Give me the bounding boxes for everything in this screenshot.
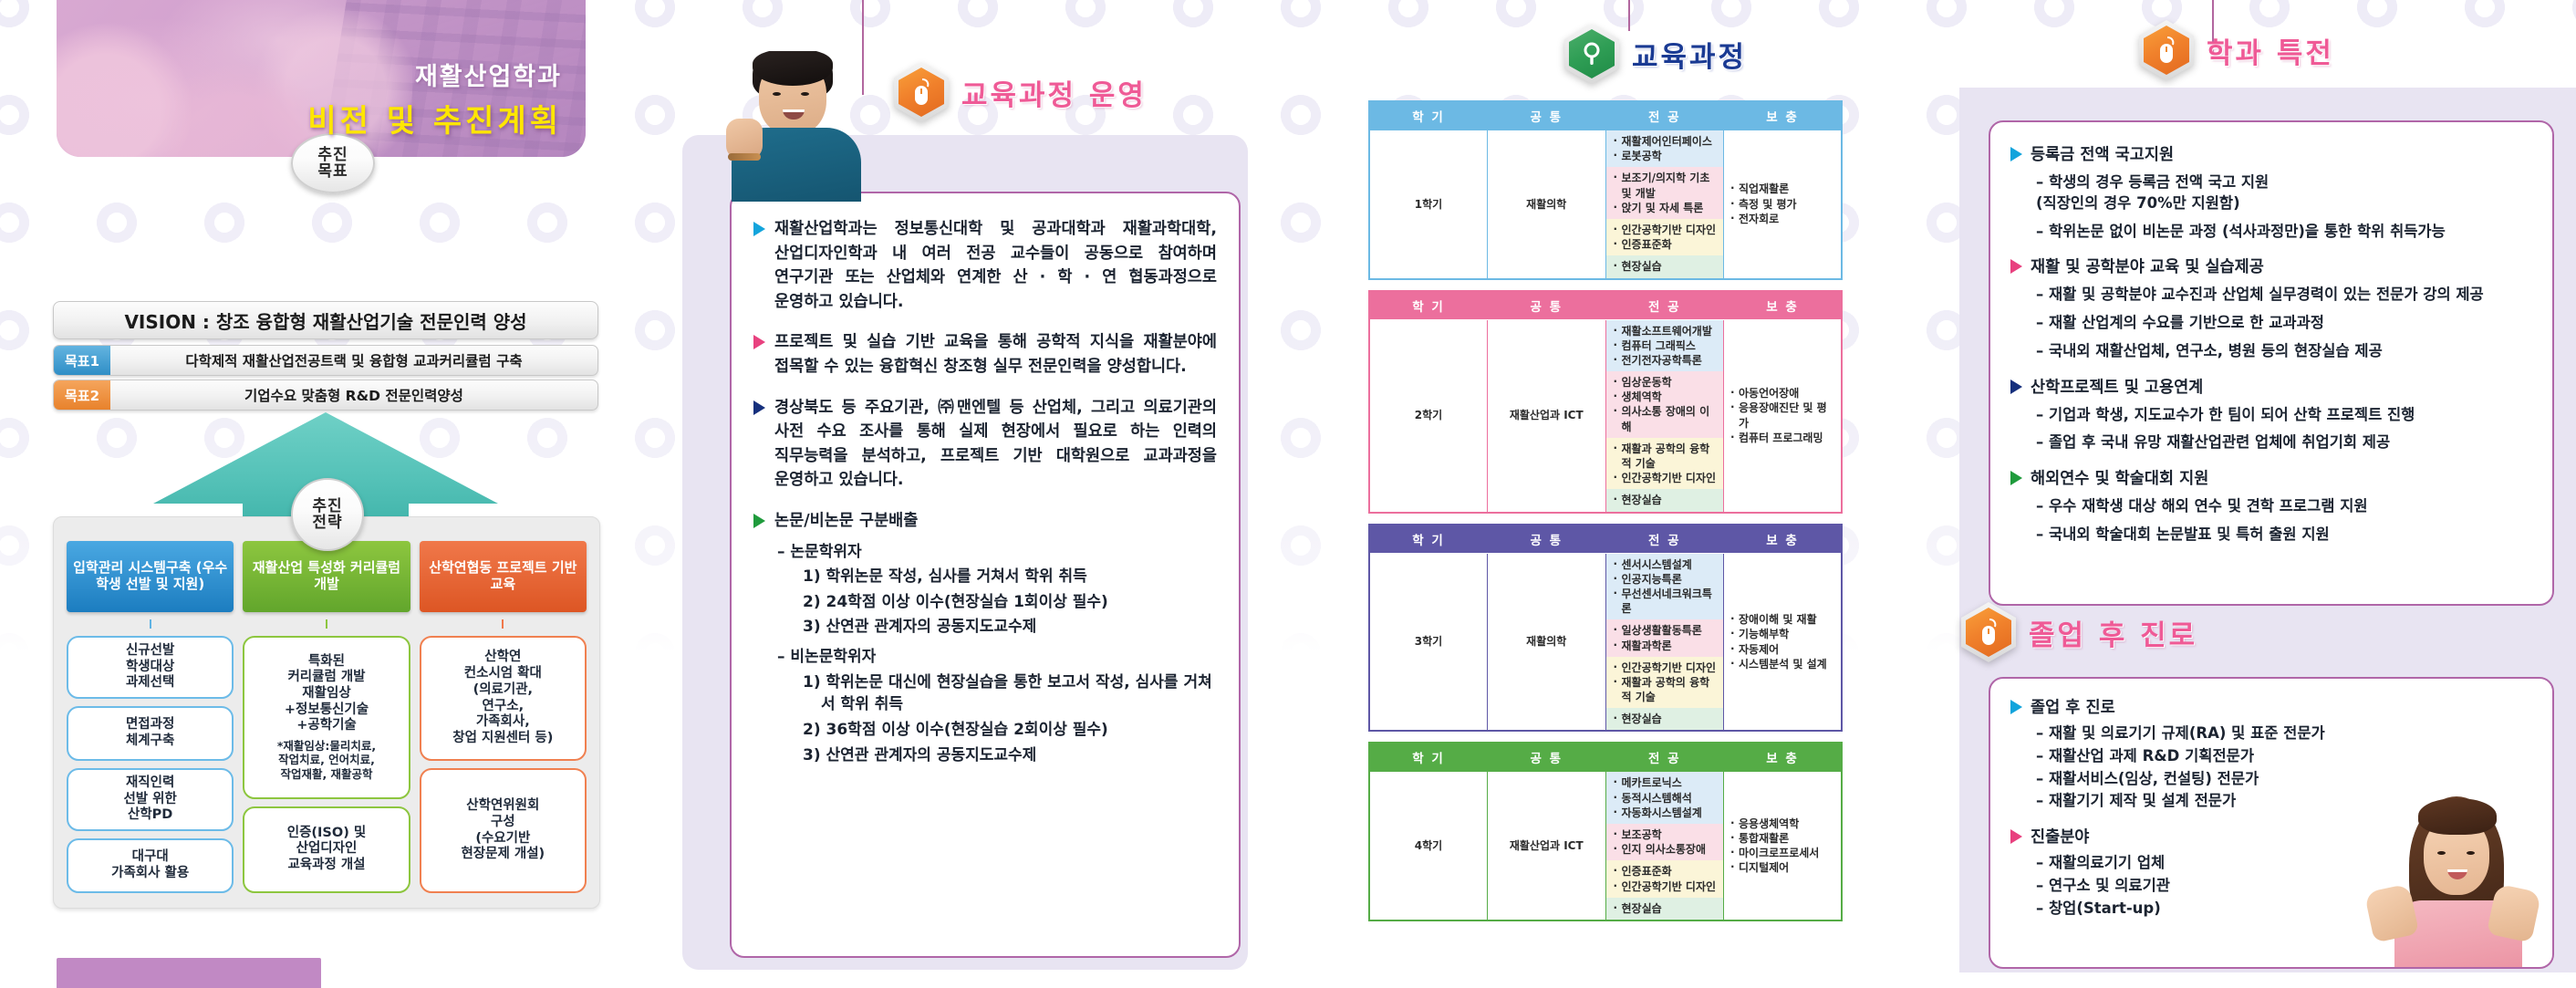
career-heading: 졸업 후 진로	[2031, 695, 2115, 718]
course: 현장실습	[1612, 901, 1719, 916]
bullet-triangle-icon	[2010, 829, 2022, 844]
section-title-special: 학과 특전	[2207, 30, 2334, 71]
semester-table-4: 학 기 공 통 전 공 보 충 4학기 재활산업과 ICT 메카트로닉스동적시스…	[1368, 742, 1843, 921]
strategy-column-industry: 산학연협동 프로젝트 기반 교육 산학연 컨소시엄 확대 (의료기관, 연구소,…	[420, 541, 587, 893]
connector	[243, 619, 410, 629]
special-heading: 재활 및 공학분야 교육 및 실습제공	[2031, 255, 2264, 277]
cell-semester: 1학기	[1369, 130, 1488, 279]
cell-semester: 2학기	[1369, 319, 1488, 513]
course: 측정 및 평가	[1729, 197, 1836, 212]
col-header-supplement: 보 충	[1724, 101, 1843, 130]
cell-supplement: 아동언어장애 응용장애진단 및 평가 컴퓨터 프로그래밍	[1724, 319, 1843, 513]
cell-major: 센서시스템설계인공지능특론무선센서네크워크특론 일상생활활동특론재활과학론 인간…	[1605, 553, 1724, 731]
col-header-major: 전 공	[1605, 525, 1724, 554]
semester-table-2: 학 기 공 통 전 공 보 충 2학기 재활산업과 ICT 재활소프트웨어개발컴…	[1368, 290, 1843, 514]
course: 생체역학	[1612, 390, 1719, 404]
badge-strategy-line1: 추진	[312, 498, 342, 515]
curriculum-tables: 학 기 공 통 전 공 보 충 1학기 재활의학 재활제어인터페이스로봇공학 보…	[1368, 100, 1879, 931]
course: 로봇공학	[1612, 149, 1719, 163]
mouse-icon	[894, 62, 949, 122]
course: 임상운동학	[1612, 375, 1719, 390]
course: 컴퓨터 프로그래밍	[1729, 431, 1836, 445]
course: 보조기/의지학 기초 및 개발	[1612, 171, 1719, 200]
cell-common: 재활산업과 ICT	[1488, 319, 1606, 513]
cell-major: 재활제어인터페이스로봇공학 보조기/의지학 기초 및 개발앉기 및 자세 특론 …	[1605, 130, 1724, 279]
col-header-semester: 학 기	[1369, 291, 1488, 320]
special-detail: – 국내외 재활산업체, 연구소, 병원 등의 현장실습 제공	[2036, 341, 2532, 362]
course: 인간공학기반 디자인	[1612, 223, 1719, 237]
course: 재활과 공학의 융학적 기술	[1612, 675, 1719, 704]
operation-block-text: 경상북도 등 주요기관, ㈜맨엔텔 등 산업체, 그리고 의료기관의 사전 수요…	[774, 396, 1217, 493]
special-detail: – 우수 재학생 대상 해외 연수 및 견학 프로그램 지원	[2036, 496, 2532, 517]
bullet-triangle-icon	[2010, 380, 2022, 394]
table-row: 1학기 재활의학 재활제어인터페이스로봇공학 보조기/의지학 기초 및 개발앉기…	[1369, 130, 1842, 279]
cell-common: 재활의학	[1488, 553, 1606, 731]
career-section: 졸업 후 진로	[2010, 695, 2532, 718]
operation-block-text: 프로젝트 및 실습 기반 교육을 통해 공학적 지식을 재활분야에 접목할 수 …	[774, 330, 1217, 379]
course: 마이크로프로세서	[1729, 846, 1836, 860]
course: 현장실습	[1612, 259, 1719, 274]
special-detail: – 졸업 후 국내 유망 재활산업관련 업체에 취업기회 제공	[2036, 432, 2532, 453]
bullet-triangle-icon	[753, 400, 765, 415]
student-photo-male	[722, 51, 868, 202]
special-section: 재활 및 공학분야 교육 및 실습제공	[2010, 255, 2532, 277]
strategy-column-curriculum: 재활산업 특성화 커리큘럼 개발 특화된 커리큘럼 개발 재활임상 +정보통신기…	[243, 541, 410, 893]
strategy-item: 산학연위원회 구성 (수요기반 현장문제 개설)	[420, 768, 587, 893]
course: 전기전자공학특론	[1612, 353, 1719, 368]
strategy-item: 면접과정 체계구축	[67, 706, 234, 761]
col-header-major: 전 공	[1605, 101, 1724, 130]
goal-tag: 목표2	[54, 380, 110, 410]
strategy-item: 산학연 컨소시엄 확대 (의료기관, 연구소, 가족회사, 창업 지원센터 등)	[420, 636, 587, 761]
col-header-supplement: 보 충	[1724, 525, 1843, 554]
course: 인공지능특론	[1612, 572, 1719, 587]
special-detail: – 재활 및 공학분야 교수진과 산업체 실무경력이 있는 전문가 강의 제공	[2036, 285, 2532, 306]
course: 앉기 및 자세 특론	[1612, 201, 1719, 215]
strategy-item: 신규선발 학생대상 과제선택	[67, 636, 234, 699]
course: 인증표준화	[1612, 864, 1719, 879]
operation-block-degree: 논문/비논문 구분배출 – 논문학위자 1) 학위논문 작성, 심사를 거쳐서 …	[753, 509, 1217, 766]
degree-requirement: 3) 산연관 관계자의 공동지도교수제	[803, 744, 1217, 767]
career-detail: – 재활 및 의료기기 규제(RA) 및 표준 전문가	[2036, 723, 2532, 744]
degree-requirement: 1) 학위논문 작성, 심사를 거쳐서 학위 취득	[803, 566, 1217, 588]
bottom-accent-bar	[57, 958, 321, 988]
strategy-item: 인증(ISO) 및 산업디자인 교육과정 개설	[243, 806, 410, 893]
special-detail: – 재활 산업계의 수요를 기반으로 한 교과과정	[2036, 313, 2532, 334]
course: 의사소통 장애의 이해	[1612, 404, 1719, 433]
hero-banner: 재활산업학과 비전 및 추진계획	[57, 0, 586, 157]
special-detail: – 학생의 경우 등록금 전액 국고 지원 (직장인의 경우 70%만 지원함)	[2036, 172, 2532, 214]
course: 인간공학기반 디자인	[1612, 879, 1719, 894]
degree-requirement: 2) 36학점 이상 이수(현장실습 2회이상 필수)	[803, 719, 1217, 742]
goal-text: 다학제적 재활산업전공트랙 및 융합형 교과커리큘럼 구축	[110, 346, 597, 375]
col-header-supplement: 보 충	[1724, 743, 1843, 772]
course: 디지털제어	[1729, 860, 1836, 875]
course: 무선센서네크워크특론	[1612, 587, 1719, 616]
badge-goal: 추진 목표	[291, 133, 375, 193]
bullet-triangle-icon	[2010, 259, 2022, 274]
cell-major: 메카트로닉스동적시스템해석자동화시스템설계 보조공학인지 의사소통장애 인증표준…	[1605, 772, 1724, 920]
course: 재활제어인터페이스	[1612, 134, 1719, 149]
cell-semester: 3학기	[1369, 553, 1488, 731]
course: 보조공학	[1612, 827, 1719, 842]
special-detail: – 학위논문 없이 비논문 과정 (석사과정만)을 통한 학위 취득가능	[2036, 222, 2532, 243]
strategy-item-main: 특화된 커리큘럼 개발 재활임상 +정보통신기술 +공학기술	[285, 654, 369, 734]
section-header-curriculum: 교육과정	[1564, 24, 1747, 84]
cell-supplement: 장애이해 및 재활 기능해부학 자동제어 시스템분석 및 설계	[1724, 553, 1843, 731]
col-header-semester: 학 기	[1369, 101, 1488, 130]
strategy-item: 대구대 가족회사 활용	[67, 838, 234, 893]
special-section: 등록금 전액 국고지원	[2010, 142, 2532, 165]
strategy-item: 특화된 커리큘럼 개발 재활임상 +정보통신기술 +공학기술 *재활임상:물리치…	[243, 636, 410, 799]
bullet-triangle-icon	[753, 335, 765, 349]
course: 재활소프트웨어개발	[1612, 324, 1719, 338]
hero-subtitle: 비전 및 추진계획	[307, 96, 562, 140]
bullet-triangle-icon	[2010, 700, 2022, 714]
semester-table-3: 학 기 공 통 전 공 보 충 3학기 재활의학 센서시스템설계인공지능특론무선…	[1368, 524, 1843, 733]
course: 응용장애진단 및 평가	[1729, 400, 1836, 430]
col-header-major: 전 공	[1605, 291, 1724, 320]
strategy-item-note: *재활임상:물리치료, 작업치료, 언어치료, 작업재활, 재활공학	[277, 739, 376, 781]
cell-supplement: 응용생체역학 통합재활론 마이크로프로세서 디지털제어	[1724, 772, 1843, 920]
col-header-common: 공 통	[1488, 525, 1606, 554]
section-title-operation: 교육과정 운영	[961, 72, 1147, 113]
vision-statement: VISION : 창조 융합형 재활산업기술 전문인력 양성	[53, 301, 598, 339]
course: 전자회로	[1729, 212, 1836, 226]
bullet-triangle-icon	[753, 514, 765, 528]
bullet-triangle-icon	[2010, 147, 2022, 161]
career-detail: – 재활산업 과제 R&D 기획전문가	[2036, 746, 2532, 767]
col-header-supplement: 보 충	[1724, 291, 1843, 320]
section-title-curriculum: 교육과정	[1632, 34, 1747, 75]
course: 인간공학기반 디자인	[1612, 660, 1719, 675]
operation-block-text: 재활산업학과는 정보통신대학 및 공과대학과 재활과학대학, 산업디자인학과 내…	[774, 217, 1217, 314]
badge-goal-line1: 추진	[317, 147, 348, 163]
bullet-triangle-icon	[2010, 471, 2022, 485]
badge-strategy: 추진 전략	[291, 478, 364, 551]
col-header-common: 공 통	[1488, 743, 1606, 772]
bullet-triangle-icon	[753, 222, 765, 236]
table-row: 2학기 재활산업과 ICT 재활소프트웨어개발컴퓨터 그래픽스전기전자공학특론 …	[1369, 319, 1842, 513]
special-card: 등록금 전액 국고지원 – 학생의 경우 등록금 전액 국고 지원 (직장인의 …	[1989, 120, 2554, 606]
course: 응용생체역학	[1729, 816, 1836, 831]
vision-column: 재활산업학과 비전 및 추진계획 추진 목표 VISION : 창조 융합형 재…	[0, 0, 666, 988]
semester-table-1: 학 기 공 통 전 공 보 충 1학기 재활의학 재활제어인터페이스로봇공학 보…	[1368, 100, 1843, 280]
course: 아동언어장애	[1729, 386, 1836, 400]
goal-row: 목표2 기업수요 맞춤형 R&D 전문인력양성	[53, 380, 598, 411]
course: 자동제어	[1729, 642, 1836, 657]
course: 시스템분석 및 설계	[1729, 657, 1836, 671]
career-heading: 진출분야	[2031, 825, 2089, 848]
special-heading: 해외연수 및 학술대회 지원	[2031, 466, 2208, 489]
cell-common: 재활산업과 ICT	[1488, 772, 1606, 920]
special-heading: 등록금 전액 국고지원	[2031, 142, 2174, 165]
course: 장애이해 및 재활	[1729, 612, 1836, 627]
degree-group-label: – 논문학위자	[777, 541, 1217, 564]
degree-group-label: – 비논문학위자	[777, 646, 1217, 669]
mouse-icon	[2139, 20, 2194, 80]
special-section: 산학프로젝트 및 고용연계	[2010, 375, 2532, 398]
goal-row: 목표1 다학제적 재활산업전공트랙 및 융합형 교과커리큘럼 구축	[53, 345, 598, 376]
strategy-column-admission: 입학관리 시스템구축 (우수학생 선발 및 지원) 신규선발 학생대상 과제선택…	[67, 541, 234, 893]
col-header-semester: 학 기	[1369, 743, 1488, 772]
course: 자동화시스템설계	[1612, 806, 1719, 820]
strategy-item: 재직인력 선발 위한 산학PD	[67, 768, 234, 831]
connector	[420, 619, 587, 629]
operation-block: 경상북도 등 주요기관, ㈜맨엔텔 등 산업체, 그리고 의료기관의 사전 수요…	[753, 396, 1217, 493]
col-header-common: 공 통	[1488, 291, 1606, 320]
course: 인간공학기반 디자인	[1612, 471, 1719, 485]
course: 동적시스템해석	[1612, 791, 1719, 806]
section-title-career: 졸업 후 진로	[2029, 612, 2197, 653]
operation-card: 재활산업학과는 정보통신대학 및 공과대학과 재활과학대학, 산업디자인학과 내…	[730, 192, 1241, 958]
strategy-panel: 입학관리 시스템구축 (우수학생 선발 및 지원) 신규선발 학생대상 과제선택…	[53, 516, 600, 909]
operation-block: 재활산업학과는 정보통신대학 및 공과대학과 재활과학대학, 산업디자인학과 내…	[753, 217, 1217, 314]
special-detail: – 기업과 학생, 지도교수가 한 팀이 되어 산학 프로젝트 진행	[2036, 405, 2532, 426]
table-row: 3학기 재활의학 센서시스템설계인공지능특론무선센서네크워크특론 일상생활활동특…	[1369, 553, 1842, 731]
student-photo-female	[2347, 780, 2543, 967]
cell-semester: 4학기	[1369, 772, 1488, 920]
special-section: 해외연수 및 학술대회 지원	[2010, 466, 2532, 489]
degree-requirement: 2) 24학점 이상 이수(현장실습 1회이상 필수)	[803, 591, 1217, 614]
badge-strategy-line2: 전략	[312, 515, 342, 531]
cell-supplement: 직업재활론 측정 및 평가 전자회로	[1724, 130, 1843, 279]
operation-block: 프로젝트 및 실습 기반 교육을 통해 공학적 지식을 재활분야에 접목할 수 …	[753, 330, 1217, 379]
course: 일상생활활동특론	[1612, 623, 1719, 638]
special-detail: – 국내외 학술대회 논문발표 및 특허 출원 지원	[2036, 525, 2532, 546]
magnifier-icon	[1564, 24, 1619, 84]
course: 현장실습	[1612, 493, 1719, 507]
goal-tag: 목표1	[54, 346, 110, 375]
strategy-head: 산학연협동 프로젝트 기반 교육	[420, 541, 587, 612]
course: 인지 의사소통장애	[1612, 842, 1719, 857]
section-header-career: 졸업 후 진로	[1961, 602, 2197, 662]
degree-requirement: 1) 학위논문 대신에 현장실습을 통한 보고서 작성, 심사를 거쳐서 학위 …	[803, 671, 1217, 716]
course: 직업재활론	[1729, 182, 1836, 196]
operation-block-text: 논문/비논문 구분배출	[774, 509, 918, 534]
mouse-icon	[1961, 602, 2016, 662]
col-header-major: 전 공	[1605, 743, 1724, 772]
badge-goal-line2: 목표	[317, 163, 348, 180]
course: 통합재활론	[1729, 831, 1836, 846]
career-card: 졸업 후 진로 – 재활 및 의료기기 규제(RA) 및 표준 전문가 – 재활…	[1989, 677, 2554, 969]
course: 기능해부학	[1729, 627, 1836, 641]
course: 재활과 공학의 융학적 기술	[1612, 442, 1719, 471]
cell-major: 재활소프트웨어개발컴퓨터 그래픽스전기전자공학특론 임상운동학생체역학의사소통 …	[1605, 319, 1724, 513]
course: 메카트로닉스	[1612, 775, 1719, 790]
strategy-head: 재활산업 특성화 커리큘럼 개발	[243, 541, 410, 612]
connector	[67, 619, 234, 629]
goal-text: 기업수요 맞춤형 R&D 전문인력양성	[110, 380, 597, 410]
degree-requirement: 3) 산연관 관계자의 공동지도교수제	[803, 616, 1217, 639]
section-header-operation: 교육과정 운영	[894, 62, 1147, 122]
course: 현장실습	[1612, 712, 1719, 726]
col-header-semester: 학 기	[1369, 525, 1488, 554]
hero-department-name: 재활산업학과	[307, 57, 562, 92]
course: 재활과학론	[1612, 639, 1719, 653]
table-row: 4학기 재활산업과 ICT 메카트로닉스동적시스템해석자동화시스템설계 보조공학…	[1369, 772, 1842, 920]
course: 인증표준화	[1612, 237, 1719, 252]
section-header-special: 학과 특전	[2139, 20, 2334, 80]
course: 센서시스템설계	[1612, 557, 1719, 572]
strategy-head: 입학관리 시스템구축 (우수학생 선발 및 지원)	[67, 541, 234, 612]
special-heading: 산학프로젝트 및 고용연계	[2031, 375, 2203, 398]
course: 컴퓨터 그래픽스	[1612, 338, 1719, 353]
hero-title-group: 재활산업학과 비전 및 추진계획	[307, 57, 562, 140]
col-header-common: 공 통	[1488, 101, 1606, 130]
cell-common: 재활의학	[1488, 130, 1606, 279]
